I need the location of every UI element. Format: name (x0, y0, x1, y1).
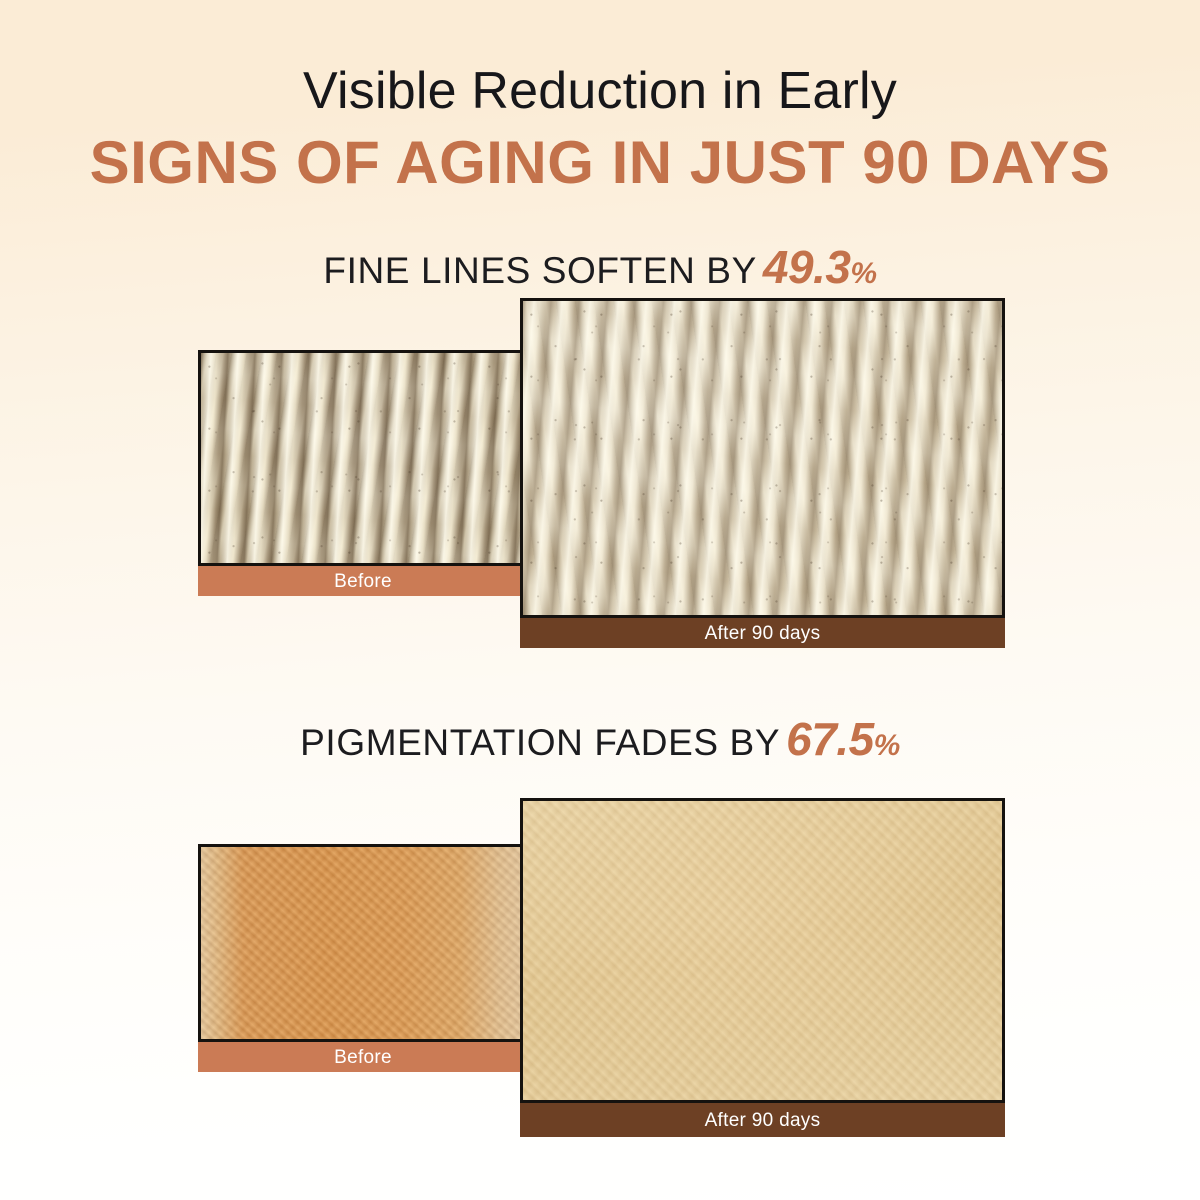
skin-texture-pigmented (201, 847, 525, 1039)
page-title-line-2: SIGNS OF AGING IN JUST 90 DAYS (0, 128, 1200, 199)
stat-heading-fine-lines: FINE LINES SOFTEN BY49.3% (0, 240, 1200, 294)
skin-texture-even-tone (523, 801, 1002, 1100)
stat-unit-fine-lines: % (850, 257, 876, 290)
after-panel-pigmentation: After 90 days (520, 798, 1005, 1137)
stat-unit-pigmentation: % (874, 729, 900, 762)
section-pigmentation: PIGMENTATION FADES BY67.5% Before After … (0, 712, 1200, 1189)
stat-value-fine-lines: 49.3 (763, 241, 851, 293)
infographic-page: Visible Reduction in Early SIGNS OF AGIN… (0, 0, 1200, 1200)
after-image-pigmentation (520, 798, 1005, 1103)
section-fine-lines: FINE LINES SOFTEN BY49.3% Before After 9… (0, 240, 1200, 720)
before-image-fine-lines (198, 350, 528, 566)
after-caption-fine-lines: After 90 days (520, 618, 1005, 648)
before-image-pigmentation (198, 844, 528, 1042)
skin-texture-softened (523, 301, 1002, 615)
stat-heading-pigmentation: PIGMENTATION FADES BY67.5% (0, 712, 1200, 766)
stat-label-pigmentation: PIGMENTATION FADES BY (300, 722, 780, 763)
page-header: Visible Reduction in Early SIGNS OF AGIN… (0, 62, 1200, 199)
before-panel-fine-lines: Before (198, 350, 528, 596)
before-caption-fine-lines: Before (198, 566, 528, 596)
comparison-pigmentation: Before After 90 days (0, 794, 1200, 1189)
before-caption-pigmentation: Before (198, 1042, 528, 1072)
after-panel-fine-lines: After 90 days (520, 298, 1005, 648)
before-panel-pigmentation: Before (198, 844, 528, 1072)
comparison-fine-lines: Before After 90 days (0, 320, 1200, 720)
stat-value-pigmentation: 67.5 (786, 713, 874, 765)
page-title-line-1: Visible Reduction in Early (0, 62, 1200, 120)
after-caption-pigmentation: After 90 days (520, 1103, 1005, 1137)
skin-texture-wrinkled (201, 353, 525, 563)
after-image-fine-lines (520, 298, 1005, 618)
stat-label-fine-lines: FINE LINES SOFTEN BY (323, 250, 756, 291)
